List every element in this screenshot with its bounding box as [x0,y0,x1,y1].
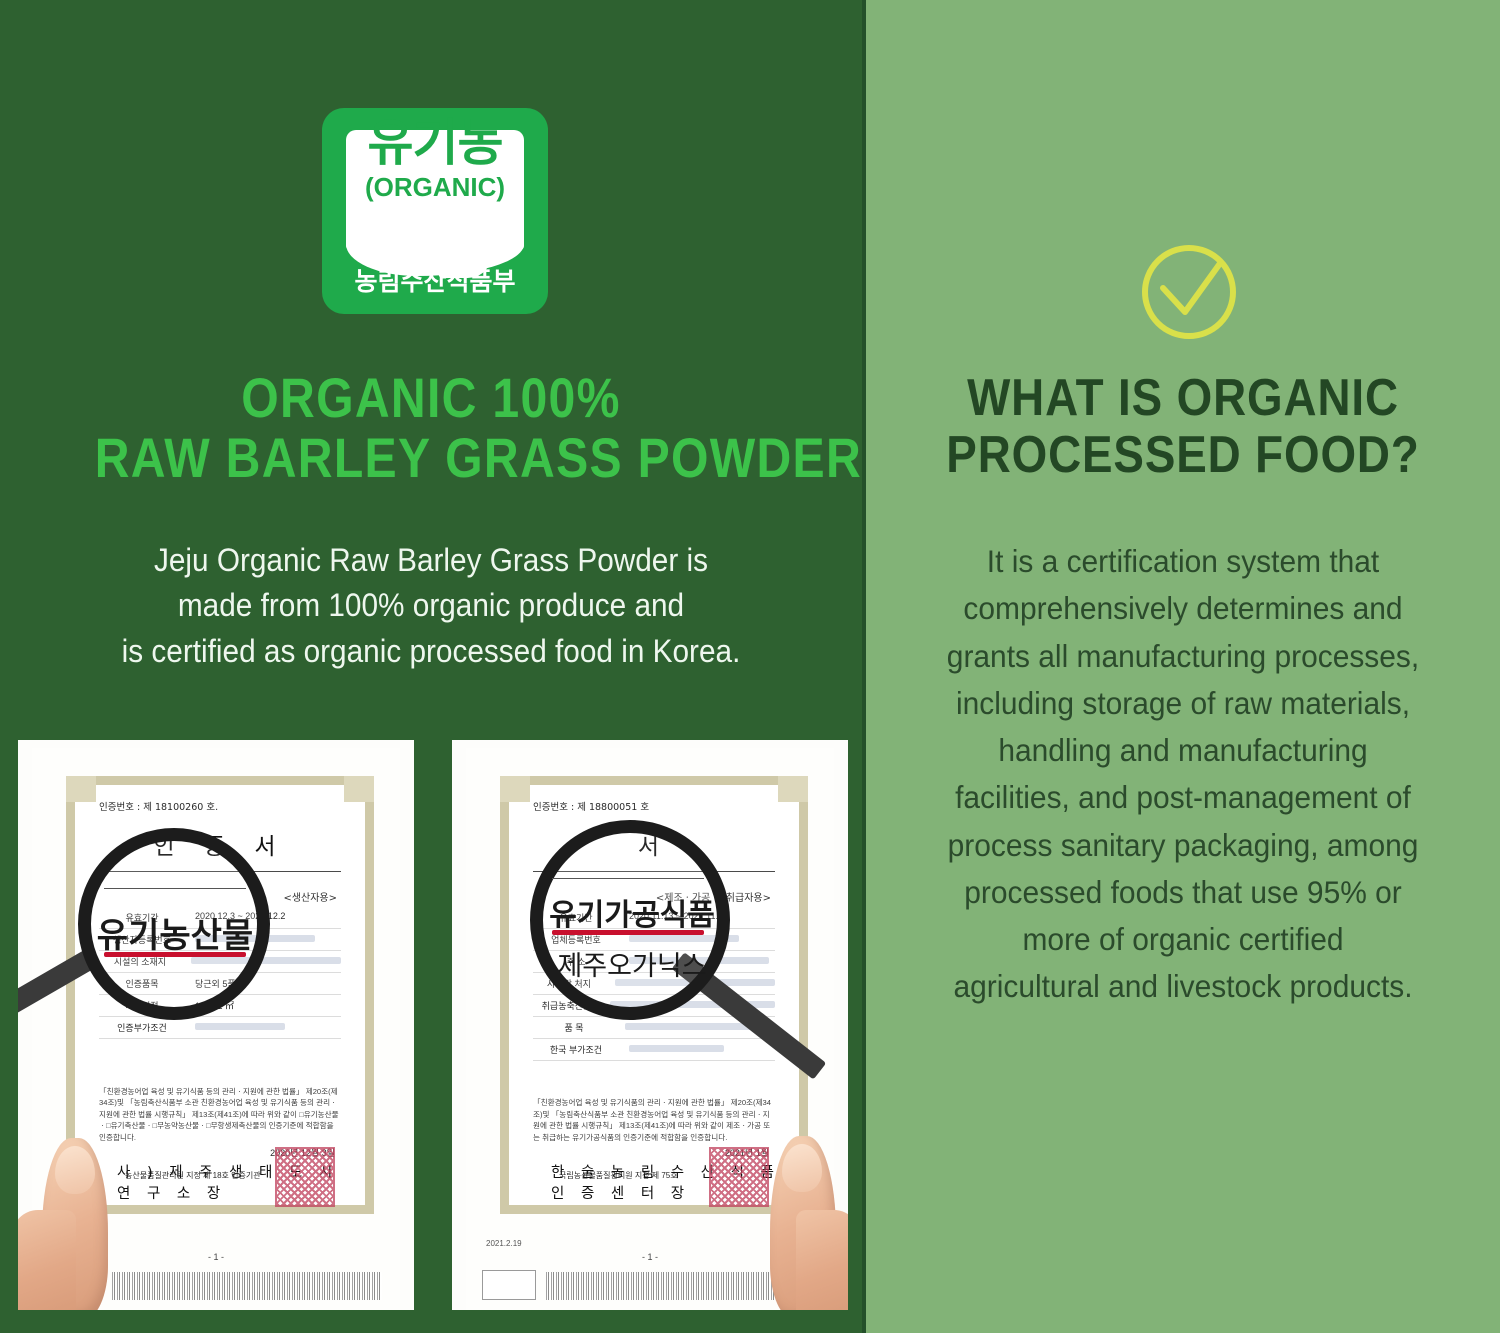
right-body-line-3: grants all manufacturing processes, [895,633,1471,680]
certificate-fine-print: 「친환경농어업 육성 및 유기식품 등의 관리ㆍ지원에 관한 법률」 제20조(… [99,1086,341,1143]
logo-korean-label: 유기농 [322,118,548,168]
magnified-keyword-underline [104,952,246,957]
certificate-subtitle: <생산자용> [283,889,337,904]
right-body-line-4: including storage of raw materials, [895,680,1471,727]
magnified-company-name: 제주오가닉스 [544,944,720,983]
right-body-line-8: processed foods that use 95% or [895,869,1471,916]
field-value [629,1043,775,1056]
left-panel-title: ORGANIC 100% RAW BARLEY GRASS POWDER [95,368,768,489]
certificate-red-seal-stamp [709,1147,769,1207]
right-body-line-7: process sanitary packaging, among [895,822,1471,869]
korea-organic-certification-logo: 유기농 (ORGANIC) 농림수산식품부 [322,108,548,314]
left-panel: 유기농 (ORGANIC) 농림수산식품부 ORGANIC 100% RAW B… [0,0,862,1333]
hand-right-edge [796,1210,848,1310]
infographic-canvas: 유기농 (ORGANIC) 농림수산식품부 ORGANIC 100% RAW B… [0,0,1500,1333]
logo-english-label: (ORGANIC) [322,174,548,200]
certificate-number: 인증번호 : 제 18800051 호 [533,799,649,813]
right-body-line-6: facilities, and post-management of [895,774,1471,821]
magnified-keyword-underline [552,930,704,935]
logo-ministry-label: 농림수산식품부 [322,262,548,298]
table-row: 인증부가조건 [99,1017,341,1039]
right-body-line-9: more of organic certified [895,916,1471,963]
left-body-line-2: made from 100% organic produce and [67,583,794,628]
certificate-fine-print: 「친환경농어업 육성 및 유기식품의 관리ㆍ지원에 관한 법률」 제20조(제3… [533,1097,775,1143]
right-title-line-2: PROCESSED FOOD? [925,427,1441,484]
certificate-barcode-box [482,1270,536,1300]
table-row: 한국 부가조건 [533,1039,775,1061]
magnifier-top-rule [552,878,704,879]
right-body-line-5: handling and manufacturing [895,727,1471,774]
thumbnail [782,1144,822,1192]
hand-left-edge [18,1210,76,1310]
left-title-line-2: RAW BARLEY GRASS POWDER [95,428,768,488]
certificate-footer-page: 2021.2.19 [486,1239,522,1248]
right-body-line-2: comprehensively determines and [895,585,1471,632]
certificate-red-seal-stamp [275,1147,335,1207]
field-key: 한국 부가조건 [533,1043,619,1056]
certificate-photo-organic-agricultural: 인증번호 : 제 18100260 호. 인 증 서 <생산자용> 유효기간 2… [18,740,414,1310]
right-panel-title: WHAT IS ORGANIC PROCESSED FOOD? [925,370,1441,484]
right-body-line-1: It is a certification system that [895,538,1471,585]
left-body-line-3: is certified as organic processed food i… [67,629,794,674]
certificate-barcode [112,1272,382,1300]
right-panel-body: It is a certification system that compre… [895,538,1471,1011]
certificate-photo-organic-processed-food: 인증번호 : 제 18800051 호 서 <제조ㆍ가공 및 취급자용> 유효기… [452,740,848,1310]
certificate-number: 인증번호 : 제 18100260 호. [99,799,218,813]
left-title-line-1: ORGANIC 100% [95,368,768,428]
field-key: 인증부가조건 [99,1021,185,1034]
thumbnail [55,1146,95,1194]
right-title-line-1: WHAT IS ORGANIC [925,370,1441,427]
magnified-keyword: 유기농산물 [90,908,260,957]
field-value [195,1021,341,1034]
left-body-line-1: Jeju Organic Raw Barley Grass Powder is [67,538,794,583]
magnified-keyword: 유기가공식품 [544,890,720,934]
field-key: 품 목 [533,1021,615,1034]
right-body-line-10: agricultural and livestock products. [895,963,1471,1010]
check-circle-icon [1137,236,1241,340]
magnifier-top-rule [104,888,246,889]
left-panel-body: Jeju Organic Raw Barley Grass Powder is … [67,538,794,674]
